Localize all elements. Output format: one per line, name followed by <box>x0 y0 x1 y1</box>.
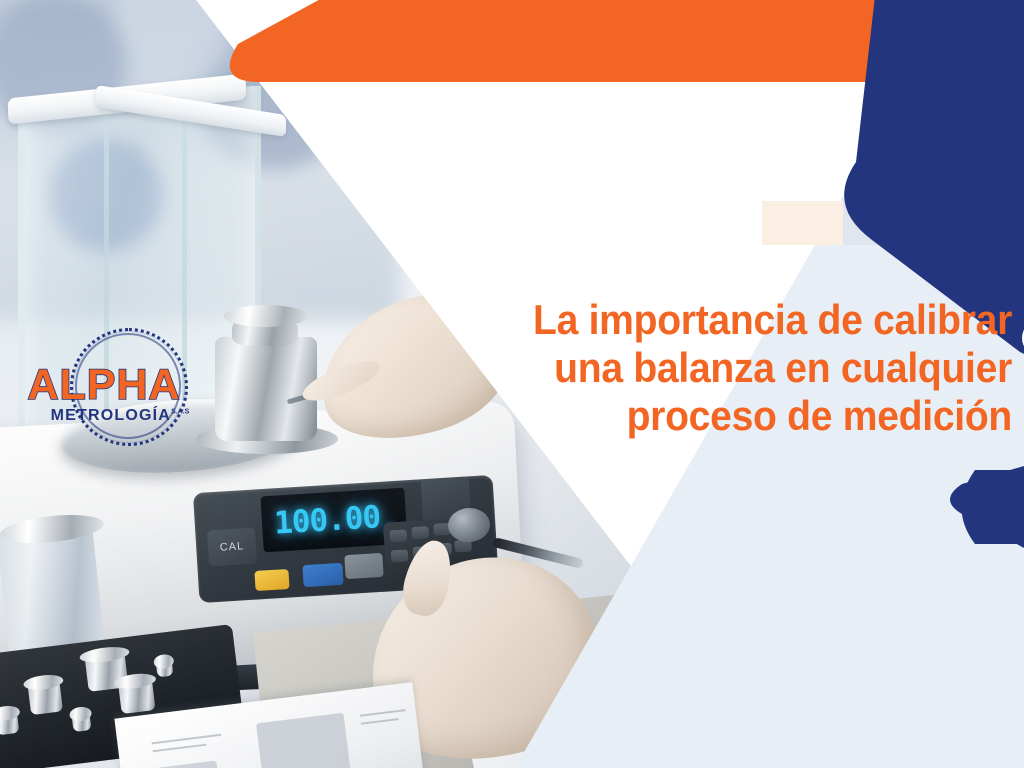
keypad-key[interactable] <box>391 549 409 562</box>
headline-line-2: una balanza en cualquier <box>508 344 1012 392</box>
keypad-key[interactable] <box>411 526 429 539</box>
booklet-text-line <box>152 734 222 745</box>
weight-piece <box>72 714 92 732</box>
booklet-text-line <box>360 709 406 717</box>
weight-piece <box>28 681 63 715</box>
tare-button[interactable] <box>302 563 343 587</box>
logo-brand-text: ALPHA <box>24 364 184 407</box>
banner-root: 100.00 g CAL <box>0 0 1024 768</box>
page-title: La importancia de calibrar una balanza e… <box>508 296 1012 440</box>
logo-subtitle-text: METROLOGÍA <box>51 407 171 424</box>
orange-top-shape <box>230 0 1024 82</box>
calibration-weight-body <box>215 337 317 441</box>
lcd-weight-value: 100.00 <box>273 502 381 539</box>
navy-right-chevron <box>950 466 1024 548</box>
booklet-figure <box>256 713 351 768</box>
booklet-text-line <box>153 744 207 753</box>
booklet-figure <box>157 761 221 768</box>
weight-piece <box>0 713 19 736</box>
booklet-text-line <box>361 718 399 725</box>
logo[interactable]: ALPHA METROLOGÍAS.A.S <box>22 326 198 446</box>
yellow-button[interactable] <box>254 569 289 591</box>
calibration-weight-cap <box>224 305 308 327</box>
weight-piece <box>156 662 174 678</box>
beige-accent-rectangle-overlap <box>843 201 920 245</box>
keypad-key[interactable] <box>390 529 408 542</box>
unit-button[interactable] <box>344 553 383 579</box>
headline-line-3: proceso de medición <box>508 392 1012 440</box>
navy-right-chevron-body <box>962 470 1024 544</box>
cal-button[interactable]: CAL <box>207 528 257 567</box>
beige-accent-rectangle <box>762 201 920 245</box>
logo-suffix: S.A.S <box>171 409 189 416</box>
weight-piece <box>118 680 155 714</box>
logo-subtitle: METROLOGÍAS.A.S <box>50 408 190 424</box>
headline-line-1: La importancia de calibrar <box>508 296 1012 344</box>
